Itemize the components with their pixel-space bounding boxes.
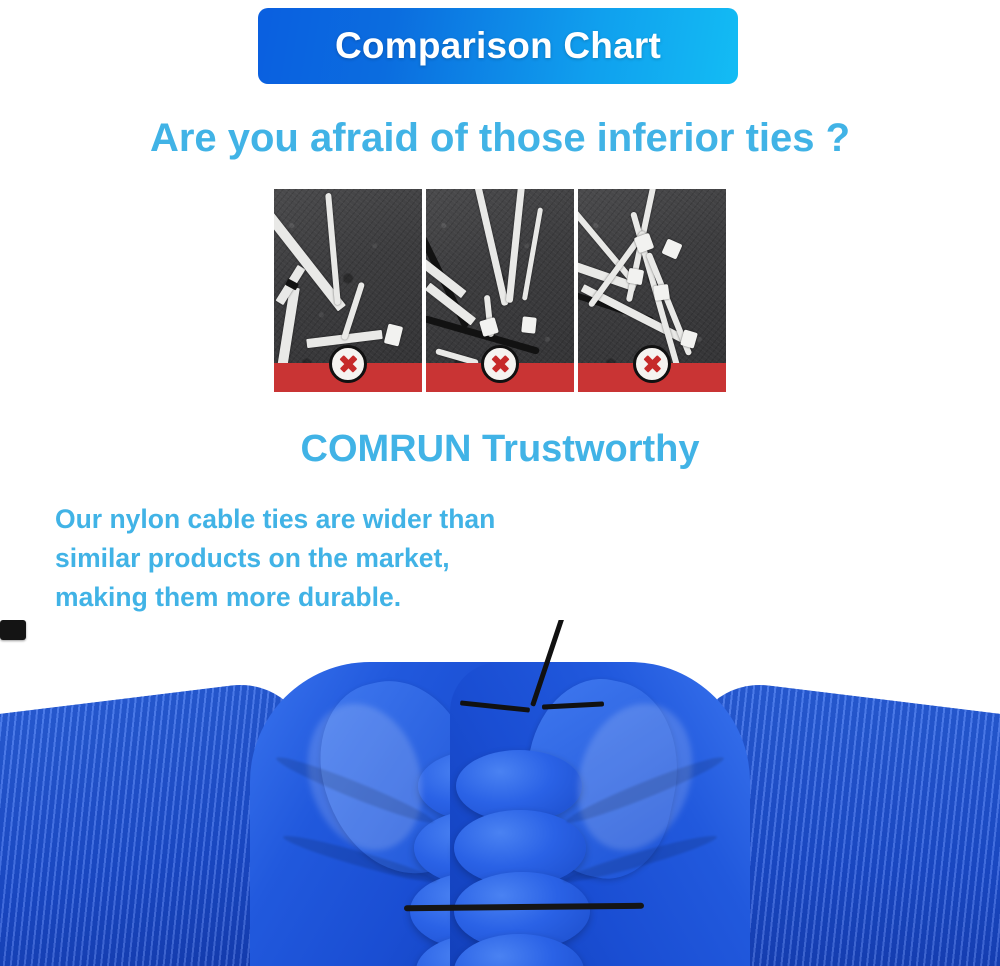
tie-head [627,268,644,285]
x-mark-icon [633,345,671,383]
x-mark-icon [329,345,367,383]
banner-title: Comparison Chart [335,25,661,67]
inferior-tie-photo-1 [274,189,422,392]
headline-question: Are you afraid of those inferior ties ? [0,116,1000,161]
x-mark-icon [481,345,519,383]
inferior-ties-photo-strip [274,189,726,392]
tie-head [653,284,670,301]
description-line-1: Our nylon cable ties are wider than [55,500,575,539]
description-line-2: similar products on the market, [55,539,575,578]
gloved-hands-photo [0,620,1000,966]
tie-head [521,316,537,333]
inferior-tie-photo-3 [578,189,726,392]
comparison-chart-page: Comparison Chart Are you afraid of those… [0,0,1000,966]
cable-tie-head [0,620,26,640]
inferior-tie-photo-2 [426,189,574,392]
description-line-3: making them more durable. [55,578,575,617]
product-description: Our nylon cable ties are wider than simi… [55,500,575,617]
comparison-chart-banner: Comparison Chart [258,8,738,84]
brand-tagline: COMRUN Trustworthy [0,428,1000,471]
